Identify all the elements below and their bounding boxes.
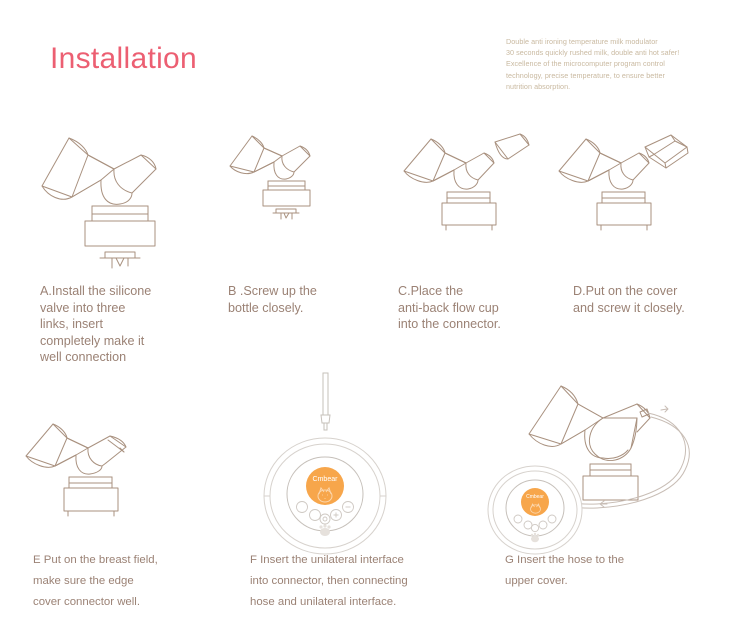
figure-c <box>398 133 558 243</box>
intro-line-5: nutrition absorption. <box>506 81 706 92</box>
caption-d-line-1: D.Put on the cover <box>573 283 738 300</box>
figure-g: Cmbear <box>485 382 715 532</box>
caption-c-line-1: C.Place the <box>398 283 568 300</box>
figure-e <box>20 418 185 533</box>
caption-a-line-3: links, insert <box>40 316 215 333</box>
caption-g-line-2: upper cover. <box>505 571 705 592</box>
caption-f-line-3: hose and unilateral interface. <box>250 592 465 613</box>
caption-a-line-5: well connection <box>40 349 215 366</box>
installation-infographic: Installation Double anti ironing tempera… <box>0 0 750 624</box>
caption-a-line-4: completely make it <box>40 333 215 350</box>
caption-c-line-3: into the connector. <box>398 316 568 333</box>
device-brand-label-small: Cmbear <box>526 494 544 500</box>
caption-b-line-1: B .Screw up the <box>228 283 388 300</box>
caption-e-line-3: cover connector well. <box>33 592 233 613</box>
caption-e-line-2: make sure the edge <box>33 571 233 592</box>
paw-bottom-icon-small <box>531 536 539 542</box>
caption-a: A.Install the silicone valve into three … <box>40 283 215 366</box>
intro-line-1: Double anti ironing temperature milk mod… <box>506 36 706 47</box>
caption-d: D.Put on the cover and screw it closely. <box>573 283 738 316</box>
caption-f-line-2: into connector, then connecting <box>250 571 465 592</box>
full-assembly-hose-to-upper-cover-icon: Cmbear <box>485 382 715 532</box>
caption-d-line-2: and screw it closely. <box>573 300 738 317</box>
breast-pump-on-breast-field-icon <box>20 418 185 533</box>
breast-pump-with-cover-icon <box>553 133 718 243</box>
device-brand-label: Cmbear <box>313 476 339 483</box>
intro-paragraph: Double anti ironing temperature milk mod… <box>506 36 706 92</box>
caption-e-line-1: E Put on the breast field, <box>33 550 233 571</box>
caption-c: C.Place the anti-back flow cup into the … <box>398 283 568 333</box>
caption-a-line-2: valve into three <box>40 300 215 317</box>
caption-a-line-1: A.Install the silicone <box>40 283 215 300</box>
caption-g-line-1: G Insert the hose to the <box>505 550 705 571</box>
caption-b: B .Screw up the bottle closely. <box>228 283 388 316</box>
figure-a <box>28 124 198 269</box>
breast-pump-with-bottle-screwed-icon <box>226 132 346 232</box>
intro-line-3: Excellence of the microcomputer program … <box>506 58 706 69</box>
page-title: Installation <box>50 42 197 75</box>
caption-e: E Put on the breast field, make sure the… <box>33 550 233 613</box>
pump-motor-unit-with-unilateral-interface-icon: Cmbear <box>258 368 393 533</box>
caption-f: F Insert the unilateral interface into c… <box>250 550 465 613</box>
breast-pump-with-silicone-valve-icon <box>28 124 198 269</box>
figure-b <box>226 132 346 232</box>
caption-g: G Insert the hose to the upper cover. <box>505 550 705 592</box>
intro-line-4: technology, precise temperature, to ensu… <box>506 70 706 81</box>
intro-line-2: 30 seconds quickly rushed milk, double a… <box>506 47 706 58</box>
caption-f-line-1: F Insert the unilateral interface <box>250 550 465 571</box>
paw-bottom-icon <box>320 528 330 536</box>
figure-d <box>553 133 718 243</box>
figure-f: Cmbear <box>258 368 393 533</box>
breast-pump-anti-back-flow-cup-icon <box>398 133 558 243</box>
caption-c-line-2: anti-back flow cup <box>398 300 568 317</box>
caption-b-line-2: bottle closely. <box>228 300 388 317</box>
